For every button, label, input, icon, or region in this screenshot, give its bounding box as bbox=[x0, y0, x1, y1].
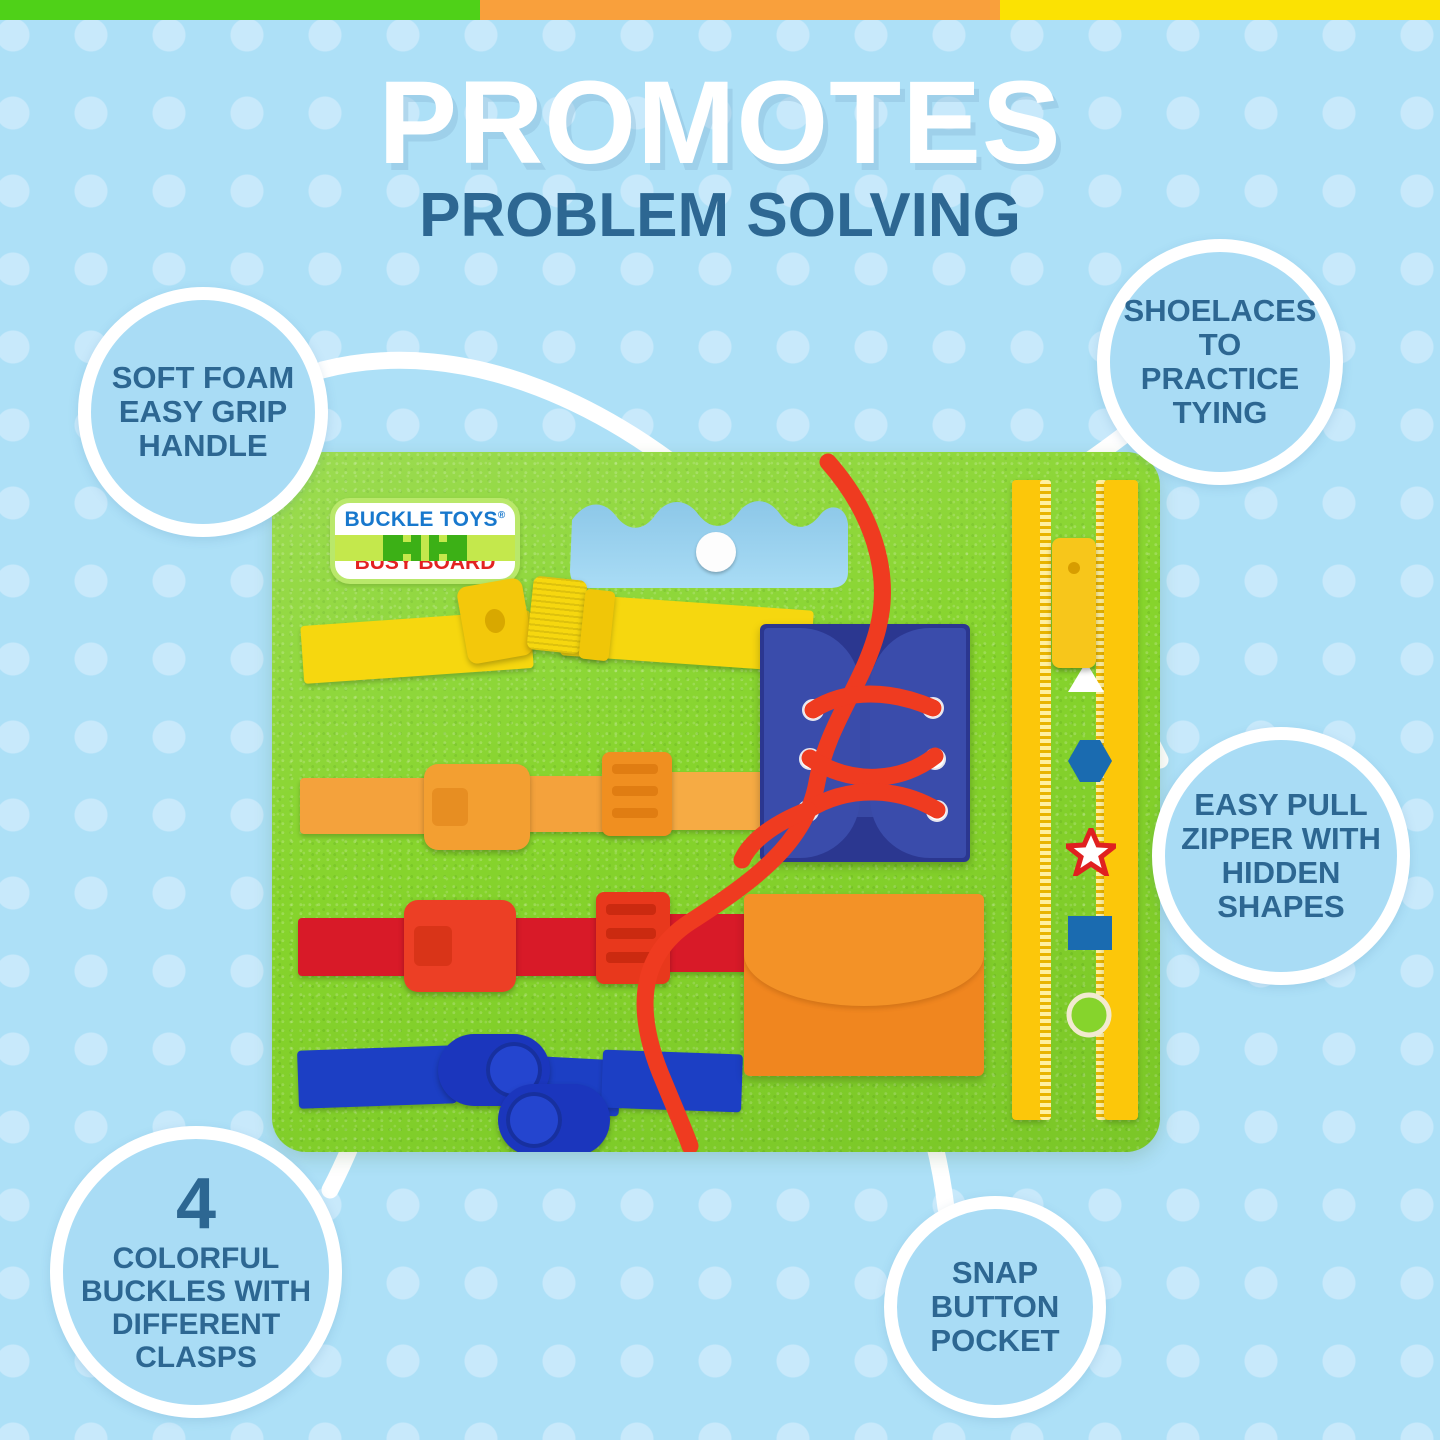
callout-line: SHAPES bbox=[1217, 889, 1344, 924]
hidden-shape-circle bbox=[1066, 992, 1112, 1038]
callout-line: EASY GRIP bbox=[119, 394, 287, 429]
shoe-eyelet bbox=[802, 699, 824, 721]
callout-text: SHOELACES TO PRACTICE TYING bbox=[1110, 294, 1330, 430]
callout-line: TO PRACTICE bbox=[1141, 327, 1299, 396]
callout-line: COLORFUL bbox=[113, 1242, 280, 1275]
logo-buckle-icon bbox=[379, 529, 471, 567]
callout-line: HANDLE bbox=[138, 428, 267, 463]
callout-zipper[interactable]: EASY PULL ZIPPER WITH HIDDEN SHAPES bbox=[1152, 727, 1410, 985]
callout-line: BUCKLES WITH bbox=[81, 1275, 311, 1308]
callout-line: DIFFERENT bbox=[112, 1308, 280, 1341]
page-subtitle: PROBLEM SOLVING bbox=[0, 185, 1440, 247]
shoe-flap-left bbox=[764, 628, 860, 858]
lacing-shoe-panel bbox=[760, 624, 970, 862]
callout-buckles[interactable]: 4 COLORFUL BUCKLES WITH DIFFERENT CLASPS bbox=[50, 1126, 342, 1418]
hidden-shape-star bbox=[1066, 828, 1116, 876]
callout-line: EASY PULL bbox=[1194, 787, 1367, 822]
callout-line: BUTTON bbox=[931, 1289, 1060, 1324]
callout-line: ZIPPER WITH bbox=[1181, 821, 1381, 856]
callout-soft-foam-handle[interactable]: SOFT FOAM EASY GRIP HANDLE bbox=[78, 287, 328, 537]
busy-board: BUCKLE TOYS® BUSY BOARD bbox=[272, 452, 1160, 1152]
callout-text: SNAP BUTTON POCKET bbox=[924, 1256, 1065, 1358]
callout-line: SOFT FOAM bbox=[112, 360, 295, 395]
orange-buckle-male bbox=[602, 752, 672, 836]
hidden-shape-rectangle bbox=[1066, 914, 1114, 952]
orange-buckle-female bbox=[424, 764, 530, 850]
brand-logo-badge: BUCKLE TOYS® BUSY BOARD bbox=[330, 498, 520, 584]
orange-strap-right bbox=[664, 772, 774, 830]
blue-strap-right bbox=[601, 1050, 743, 1113]
topbar-segment-yellow bbox=[1000, 0, 1440, 20]
callout-line: TYING bbox=[1173, 395, 1268, 430]
callout-line: SNAP bbox=[952, 1255, 1038, 1290]
callout-text: EASY PULL ZIPPER WITH HIDDEN SHAPES bbox=[1175, 788, 1387, 924]
callout-shoelaces[interactable]: SHOELACES TO PRACTICE TYING bbox=[1097, 239, 1343, 485]
zipper-pull-hole bbox=[1068, 562, 1080, 574]
blue-strap-left bbox=[297, 1045, 457, 1108]
page-title: PROMOTES bbox=[0, 64, 1440, 182]
pocket-snap-button bbox=[696, 532, 736, 572]
shoe-eyelet bbox=[926, 800, 948, 822]
red-buckle-female bbox=[404, 900, 516, 992]
zipper-teeth-left bbox=[1040, 480, 1051, 1120]
logo-brand-text: BUCKLE TOYS® bbox=[335, 503, 515, 532]
topbar-segment-green bbox=[0, 0, 480, 20]
callout-snap-pocket[interactable]: SNAP BUTTON POCKET bbox=[884, 1196, 1106, 1418]
yellow-buckle-female bbox=[456, 577, 535, 665]
zipper-strip bbox=[1012, 480, 1136, 1120]
shoe-eyelet bbox=[799, 748, 821, 770]
shoe-eyelet bbox=[797, 800, 819, 822]
pocket-flap bbox=[744, 894, 984, 1006]
logo-registered-mark: ® bbox=[498, 510, 506, 521]
callout-line: HIDDEN bbox=[1222, 855, 1341, 890]
topbar-segment-orange bbox=[480, 0, 1000, 20]
shoe-flap-right bbox=[870, 628, 966, 858]
callout-line: POCKET bbox=[930, 1323, 1059, 1358]
top-color-bar bbox=[0, 0, 1440, 20]
shoe-eyelet bbox=[922, 697, 944, 719]
shoe-eyelet bbox=[924, 748, 946, 770]
blue-buckle-twist-b bbox=[498, 1084, 610, 1152]
callout-text: 4 COLORFUL BUCKLES WITH DIFFERENT CLASPS bbox=[75, 1170, 317, 1373]
logo-brand-label: BUCKLE TOYS bbox=[344, 508, 497, 531]
red-buckle-male bbox=[596, 892, 670, 984]
zipper-pull-slider bbox=[1052, 538, 1096, 668]
snap-button-pocket bbox=[744, 894, 984, 1076]
callout-line: CLASPS bbox=[135, 1341, 257, 1374]
yellow-buckle-male bbox=[526, 575, 587, 654]
callout-line: SHOELACES bbox=[1124, 293, 1317, 328]
callout-count: 4 bbox=[81, 1170, 311, 1239]
hidden-shape-hexagon bbox=[1066, 738, 1114, 784]
callout-text: SOFT FOAM EASY GRIP HANDLE bbox=[106, 361, 301, 463]
